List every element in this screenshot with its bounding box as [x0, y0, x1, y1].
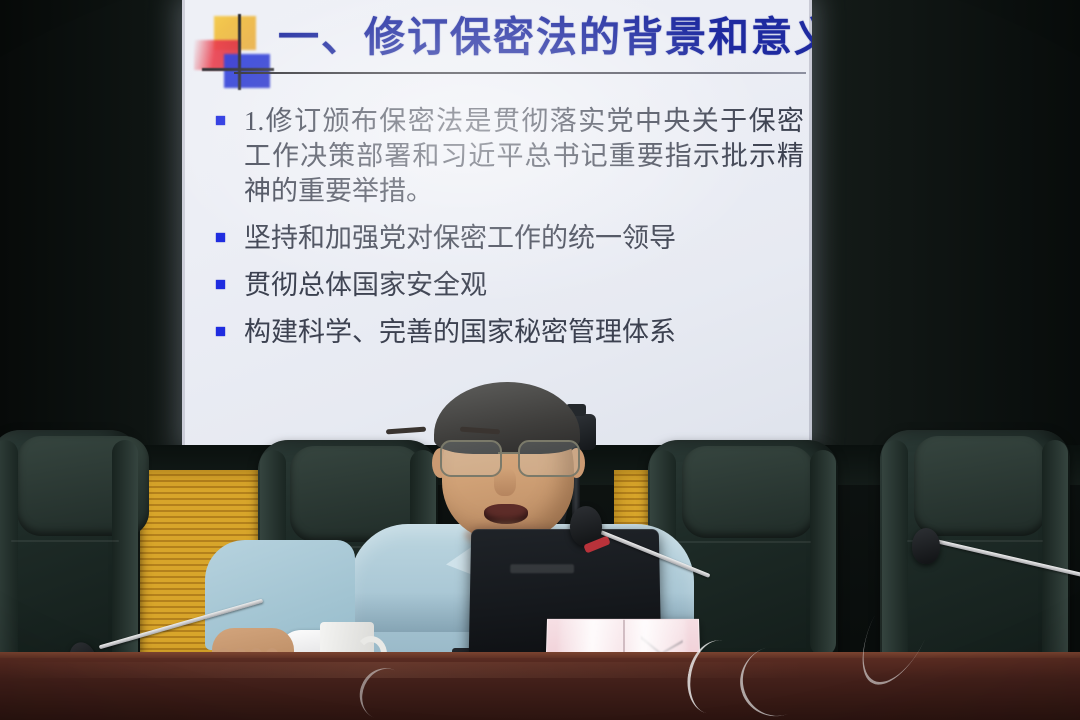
chair-headrest	[682, 446, 814, 538]
mouth	[484, 504, 528, 524]
chair-headrest	[914, 436, 1046, 536]
decor-horizontal-line	[202, 68, 274, 71]
list-item: 构建科学、完善的国家秘密管理体系	[210, 315, 810, 350]
slide-bullet-list: 1.修订颁布保密法是贯彻落实党中央关于保密工作决策部署和习近平总书记重要指示批示…	[210, 104, 810, 362]
glasses-bridge	[498, 452, 520, 454]
decor-blue-square	[224, 54, 270, 88]
table-sheen	[0, 662, 1080, 678]
chair-wing-left	[0, 440, 18, 666]
lens-left	[440, 440, 502, 477]
slide-decor-mark	[194, 14, 278, 90]
screen-edge-left	[182, 0, 185, 448]
microphone[interactable]	[912, 528, 940, 564]
list-item-text: 坚持和加强党对保密工作的统一领导	[244, 221, 810, 256]
laptop-brand-logo	[510, 564, 574, 573]
bullet-square-icon	[216, 116, 225, 125]
screenshot-root: 一、修订保密法的背景和意义 1.修订颁布保密法是贯彻落实党中央关于保密工作决策部…	[0, 0, 1080, 720]
chair-wing-right	[1042, 440, 1068, 666]
decor-vertical-line	[238, 14, 241, 90]
list-item: 1.修订颁布保密法是贯彻落实党中央关于保密工作决策部署和习近平总书记重要指示批示…	[210, 104, 804, 209]
list-item-text: 1.修订颁布保密法是贯彻落实党中央关于保密工作决策部署和习近平总书记重要指示批示…	[244, 104, 804, 209]
wall-right	[805, 0, 1080, 470]
chair-wing-right	[112, 440, 138, 666]
bullet-square-icon	[216, 327, 225, 336]
list-item-text: 贯彻总体国家安全观	[244, 268, 810, 303]
list-item: 贯彻总体国家安全观	[210, 268, 810, 303]
list-item-text: 构建科学、完善的国家秘密管理体系	[244, 315, 810, 350]
chair-seam	[11, 540, 119, 542]
chair-wing-right	[810, 450, 836, 656]
slide-title: 一、修订保密法的背景和意义	[278, 8, 798, 66]
chair-seam	[675, 541, 812, 543]
bullet-square-icon	[216, 280, 225, 289]
eyebrow-left	[386, 427, 426, 435]
nose	[494, 468, 516, 496]
wall-left	[0, 0, 200, 470]
bullet-square-icon	[216, 233, 225, 242]
projection-screen: 一、修订保密法的背景和意义 1.修订颁布保密法是贯彻落实党中央关于保密工作决策部…	[182, 0, 812, 448]
lens-right	[518, 440, 580, 477]
slide-title-rule	[234, 72, 806, 74]
list-item: 坚持和加强党对保密工作的统一领导	[210, 221, 810, 256]
